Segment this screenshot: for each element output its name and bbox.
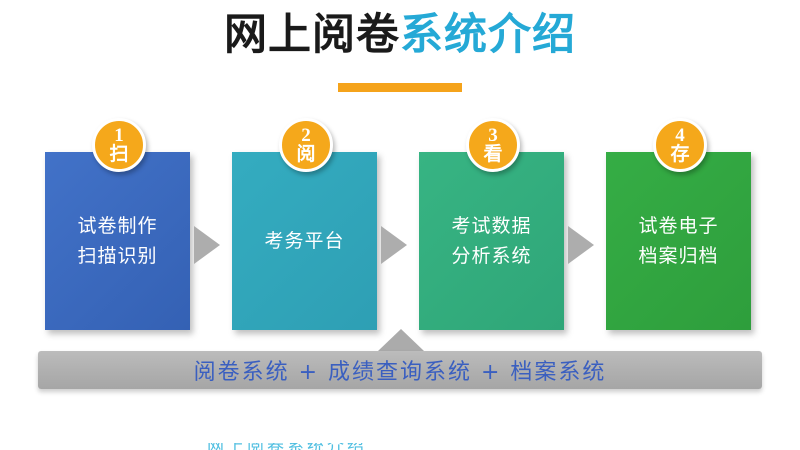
flow-step-3-line2: 分析系统 (419, 241, 564, 271)
flow-step-2[interactable]: 考务平台 (232, 152, 377, 330)
flow-step-2-label: 考务平台 (232, 226, 377, 256)
flow-step-3-badge-number: 3 (488, 127, 498, 144)
flow-step-4-badge-word: 存 (670, 144, 689, 164)
flow-step-3-label: 考试数据 分析系统 (419, 211, 564, 271)
flow-step-1-badge: 1 扫 (92, 118, 146, 172)
flow-step-1-badge-number: 1 (114, 127, 124, 144)
flow-step-2-line1: 考务平台 (232, 226, 377, 256)
flow-step-1-label: 试卷制作 扫描识别 (45, 211, 190, 271)
flow-step-2-badge: 2 阅 (279, 118, 333, 172)
flow-step-4-badge: 4 存 (653, 118, 707, 172)
flow-step-2-badge-word: 阅 (296, 144, 315, 164)
flow-step-4-line1: 试卷电子 (606, 211, 751, 241)
flow-step-4[interactable]: 试卷电子 档案归档 (606, 152, 751, 330)
flow-step-4-label: 试卷电子 档案归档 (606, 211, 751, 271)
flow-step-2-badge-number: 2 (301, 127, 311, 144)
flow-arrow-right-icon-1 (194, 226, 220, 264)
flow-step-1-line1: 试卷制作 (45, 211, 190, 241)
footer-text: 网上阅卷系统介绍 (207, 443, 367, 450)
flow-step-3-badge-word: 看 (483, 144, 502, 164)
bottom-bar-pointer-up-icon (378, 329, 424, 351)
flow-step-3-line1: 考试数据 (419, 211, 564, 241)
flow-step-4-badge-number: 4 (675, 127, 685, 144)
flow-arrow-right-icon-2 (381, 226, 407, 264)
footer-cropped-strip: 网上阅卷系统介绍 (0, 443, 800, 450)
flow-step-1[interactable]: 试卷制作 扫描识别 (45, 152, 190, 330)
flow-step-3-badge: 3 看 (466, 118, 520, 172)
bottom-summary-bar: 阅卷系统 + 成绩查询系统 + 档案系统 (38, 351, 762, 389)
flow-step-4-line2: 档案归档 (606, 241, 751, 271)
flow-step-1-badge-word: 扫 (109, 144, 128, 164)
flow-arrow-right-icon-3 (568, 226, 594, 264)
bottom-summary-bar-text: 阅卷系统 + 成绩查询系统 + 档案系统 (194, 354, 607, 386)
flow-step-3[interactable]: 考试数据 分析系统 (419, 152, 564, 330)
flow-step-1-line2: 扫描识别 (45, 241, 190, 271)
